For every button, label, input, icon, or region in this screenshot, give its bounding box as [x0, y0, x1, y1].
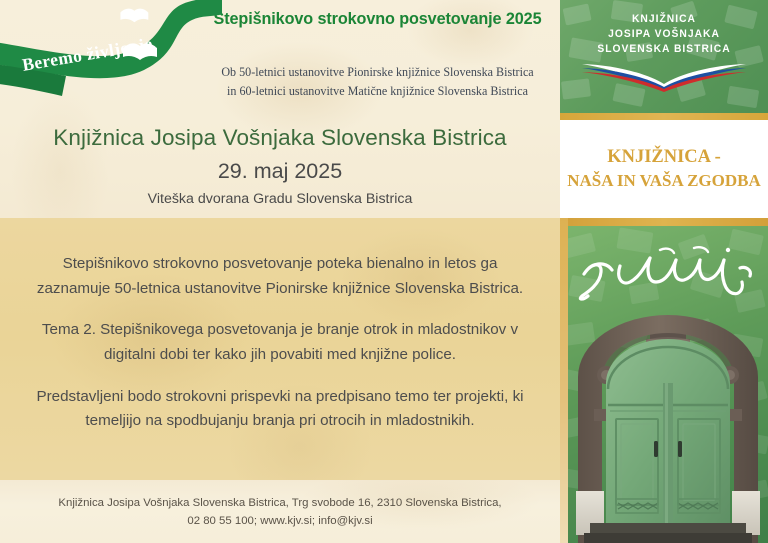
description-paragraph-3: Predstavljeni bodo strokovni prispevki n… — [30, 385, 530, 434]
slogan-panel: KNJIŽNICA - NAŠA IN VAŠA ZGODBA — [560, 120, 768, 218]
logo-line-1: KNJIŽNICA — [568, 12, 759, 27]
event-date: 29. maj 2025 — [0, 159, 560, 184]
left-column: Beremo življenje Stepišnikovo strokovno … — [0, 0, 560, 543]
logo-line-3: SLOVENSKA BISTRICA — [568, 42, 759, 57]
gold-side-strip — [560, 218, 568, 543]
footer-address: Knjižnica Josipa Vošnjaka Slovenska Bist… — [30, 494, 530, 512]
description-block: Stepišnikovo strokovno posvetovanje pote… — [30, 252, 530, 434]
contact-footer: Knjižnica Josipa Vošnjaka Slovenska Bist… — [30, 494, 530, 531]
subheadline-line-1: Ob 50-letnici ustanovitve Pionirske knji… — [200, 63, 555, 82]
slogan-line-1: KNJIŽNICA - — [564, 145, 764, 170]
open-book-tricolor-icon — [560, 60, 768, 92]
ribbon-band — [0, 0, 222, 78]
door-photo-panel — [560, 226, 768, 543]
event-venue: Viteška dvorana Gradu Slovenska Bistrica — [0, 191, 560, 207]
poster-root: Beremo življenje Stepišnikovo strokovno … — [0, 0, 768, 543]
organizer-name: Knjižnica Josipa Vošnjaka Slovenska Bist… — [0, 125, 560, 151]
right-column: KNJIŽNICA JOSIPA VOŠNJAKA SLOVENSKA BIST… — [560, 0, 768, 543]
vosnjak-signature — [568, 244, 764, 311]
logo-emblem — [560, 60, 768, 97]
handwritten-signature-icon — [568, 244, 764, 306]
gold-divider-bottom — [560, 218, 768, 226]
poster-subheadline: Ob 50-letnici ustanovitve Pionirske knji… — [200, 63, 555, 101]
poster-headline: Stepišnikovo strokovno posvetovanje 2025 — [200, 8, 555, 31]
description-paragraph-1: Stepišnikovo strokovno posvetovanje pote… — [30, 252, 530, 301]
ribbon-shape — [0, 0, 222, 112]
library-logo-panel: KNJIŽNICA JOSIPA VOŠNJAKA SLOVENSKA BIST… — [560, 0, 768, 113]
open-book-icon — [120, 9, 148, 23]
logo-line-2: JOSIPA VOŠNJAKA — [568, 27, 759, 42]
door-photograph — [568, 313, 768, 543]
subheadline-line-2: in 60-letnici ustanovitve Matične knjižn… — [200, 82, 555, 101]
slogan-ribbon: Beremo življenje — [0, 0, 222, 112]
slogan-text: KNJIŽNICA - NAŠA IN VAŠA ZGODBA — [564, 145, 764, 193]
footer-contact: 02 80 55 100; www.kjv.si; info@kjv.si — [30, 512, 530, 530]
description-paragraph-2: Tema 2. Stepišnikovega posvetovanja je b… — [30, 318, 530, 367]
logo-content: KNJIŽNICA JOSIPA VOŠNJAKA SLOVENSKA BIST… — [560, 12, 768, 97]
gold-divider-top — [560, 113, 768, 120]
door-image — [568, 313, 768, 543]
slogan-line-2: NAŠA IN VAŠA ZGODBA — [564, 170, 764, 193]
